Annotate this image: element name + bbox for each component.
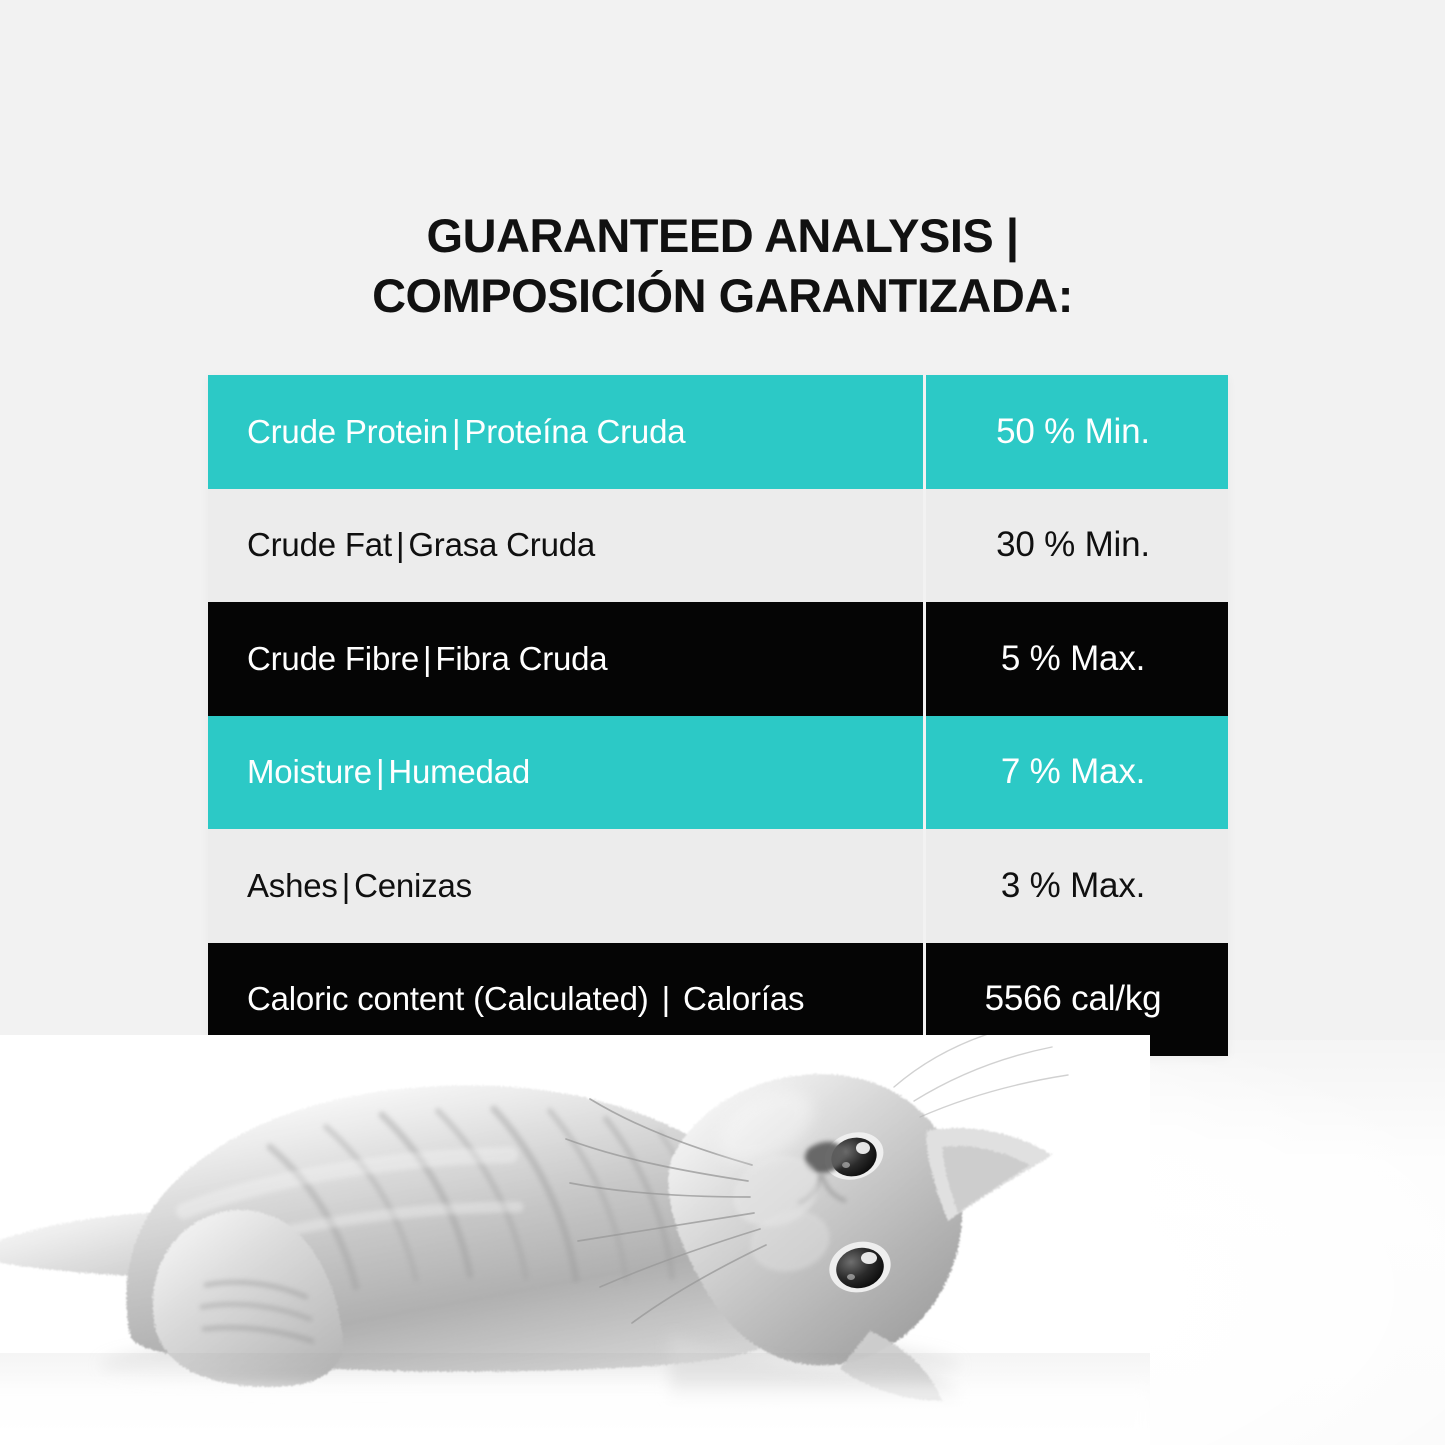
nutrient-label-en: Ashes xyxy=(247,867,338,905)
nutrient-label-cell: Ashes | Cenizas xyxy=(208,829,923,943)
nutrient-label-en: Crude Protein xyxy=(247,413,448,451)
page-title: GUARANTEED ANALYSIS | COMPOSICIÓN GARANT… xyxy=(0,206,1445,326)
nutrient-label-es: Fibra Cruda xyxy=(435,640,607,678)
nutrient-label-cell: Caloric content (Calculated) | Calorías xyxy=(208,943,923,1057)
nutrient-label-cell: Crude Protein | Proteína Cruda xyxy=(208,375,923,489)
nutrient-value-cell: 50 % Min. xyxy=(923,375,1228,489)
nutrient-value-cell: 7 % Max. xyxy=(923,716,1228,830)
nutrient-label-en: Crude Fibre xyxy=(247,640,419,678)
label-separator: | xyxy=(338,867,354,905)
page-title-line-es: COMPOSICIÓN GARANTIZADA: xyxy=(0,266,1445,326)
photo-backdrop xyxy=(0,1040,1445,1445)
nutrient-value-cell: 5 % Max. xyxy=(923,602,1228,716)
nutrient-label-en: Crude Fat xyxy=(247,526,392,564)
table-row: Moisture | Humedad 7 % Max. xyxy=(208,716,1228,830)
nutrient-label-cell: Moisture | Humedad xyxy=(208,716,923,830)
nutrient-label-en: Caloric content (Calculated) xyxy=(247,980,649,1018)
nutrient-label-es: Cenizas xyxy=(354,867,472,905)
nutrient-label-es: Humedad xyxy=(388,753,530,791)
nutrient-label-cell: Crude Fibre | Fibra Cruda xyxy=(208,602,923,716)
table-row: Crude Protein | Proteína Cruda 50 % Min. xyxy=(208,375,1228,489)
nutrient-label-es: Grasa Cruda xyxy=(408,526,595,564)
cat-photo xyxy=(0,1035,1150,1445)
table-row: Caloric content (Calculated) | Calorías … xyxy=(208,943,1228,1057)
nutrient-value-cell: 3 % Max. xyxy=(923,829,1228,943)
label-separator: | xyxy=(419,640,435,678)
page-title-line-en: GUARANTEED ANALYSIS | xyxy=(0,206,1445,266)
table-row: Ashes | Cenizas 3 % Max. xyxy=(208,829,1228,943)
guaranteed-analysis-table: Crude Protein | Proteína Cruda 50 % Min.… xyxy=(208,375,1228,1056)
nutrient-value-cell: 5566 cal/kg xyxy=(923,943,1228,1057)
nutrient-label-cell: Crude Fat | Grasa Cruda xyxy=(208,489,923,603)
nutrient-value-cell: 30 % Min. xyxy=(923,489,1228,603)
nutrient-label-es: Proteína Cruda xyxy=(464,413,685,451)
product-info-panel: GUARANTEED ANALYSIS | COMPOSICIÓN GARANT… xyxy=(0,0,1445,1445)
label-separator: | xyxy=(392,526,408,564)
nutrient-label-en: Moisture xyxy=(247,753,372,791)
nutrient-label-es: Calorías xyxy=(683,980,804,1018)
label-separator: | xyxy=(649,980,683,1018)
table-row: Crude Fibre | Fibra Cruda 5 % Max. xyxy=(208,602,1228,716)
label-separator: | xyxy=(372,753,388,791)
table-row: Crude Fat | Grasa Cruda 30 % Min. xyxy=(208,489,1228,603)
label-separator: | xyxy=(448,413,464,451)
